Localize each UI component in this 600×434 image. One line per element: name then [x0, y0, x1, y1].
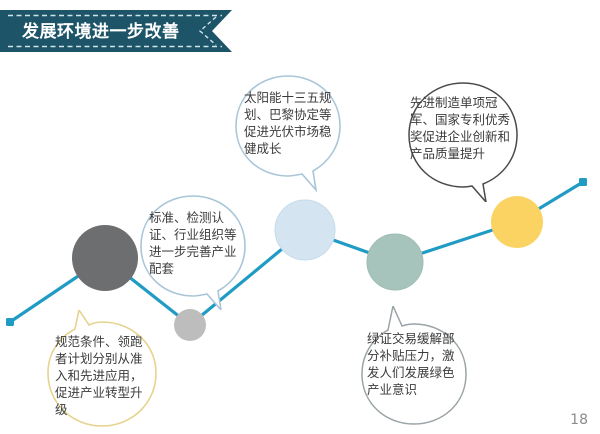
callout-manufacturing[interactable]: 先进制造单项冠军、国家专利优秀奖促进企业创新和产品质量提升 — [396, 80, 530, 202]
callout-greencert-text: 绿证交易缓解部分补贴压力，激发人们发展绿色产业意识 — [367, 331, 463, 399]
banner: 发展环境进一步改善 — [0, 10, 240, 52]
page-number: 18 — [570, 412, 588, 428]
node-regulation[interactable] — [72, 225, 138, 291]
callout-solar-text: 太阳能十三五规划、巴黎协定等促进光伏市场稳健成长 — [244, 90, 340, 158]
callout-standards[interactable]: 标准、检测认证、行业组织等进一步完善产业配套 — [133, 190, 257, 310]
callout-standards-text: 标准、检测认证、行业组织等进一步完善产业配套 — [149, 210, 245, 278]
node-manufacturing[interactable] — [491, 196, 543, 248]
end-marker — [579, 178, 587, 186]
start-marker — [6, 318, 14, 326]
node-greencert[interactable] — [367, 234, 423, 290]
page-title: 发展环境进一步改善 — [22, 20, 212, 44]
callout-regulation-text: 规范条件、领跑者计划分别从准入和先进应用，促进产业转型升级 — [55, 334, 153, 419]
callout-greencert[interactable]: 绿证交易缓解部分补贴压力，激发人们发展绿色产业意识 — [352, 306, 476, 428]
callout-manufacturing-text: 先进制造单项冠军、国家专利优秀奖促进企业创新和产品质量提升 — [410, 95, 516, 163]
callout-regulation[interactable]: 规范条件、领跑者计划分别从准入和先进应用，促进产业转型升级 — [35, 310, 169, 434]
slide-canvas: 发展环境进一步改善 规范条件、领跑者计划分别从准入和先进应用，促进产业转型升级 … — [0, 0, 600, 434]
node-standards[interactable] — [174, 309, 206, 341]
node-solar[interactable] — [275, 200, 335, 260]
callout-solar[interactable]: 太阳能十三五规划、巴黎协定等促进光伏市场稳健成长 — [228, 72, 352, 192]
